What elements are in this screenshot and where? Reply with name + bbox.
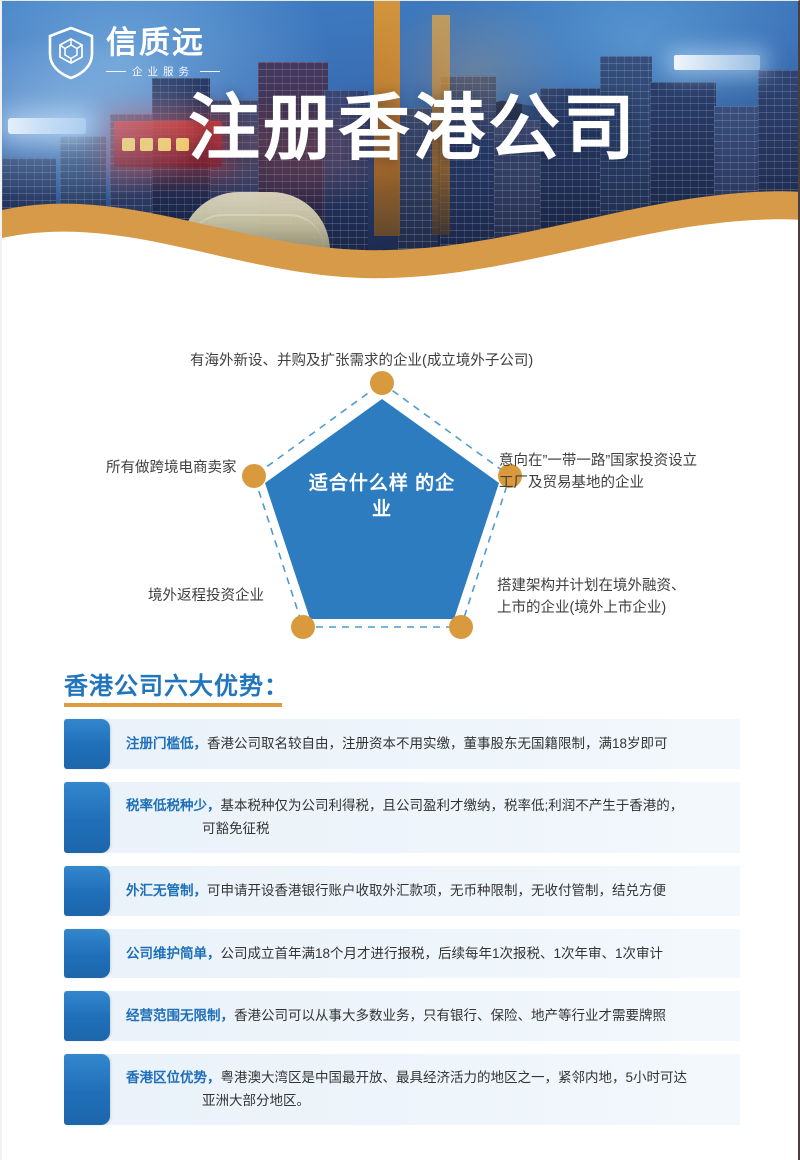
- advantage-term: 注册门槛低，: [126, 736, 207, 751]
- advantage-desc: 公司成立首年满18个月才进行报税，后续每年1次报税、1次年审、1次审计: [221, 946, 664, 961]
- advantage-term: 外汇无管制，: [126, 883, 207, 898]
- diagram-label-left: 所有做跨境电商卖家: [106, 458, 237, 480]
- diagram-label-top: 有海外新设、并购及扩张需求的企业(成立境外子公司): [190, 351, 533, 373]
- advantage-row: 香港区位优势，粤港澳大湾区是中国最开放、最具经济活力的地区之一，紧邻内地，5小时…: [64, 1054, 740, 1125]
- advantages-heading-underline: [64, 703, 282, 707]
- advantage-desc: 香港公司可以从事大多数业务，只有银行、保险、地产等行业才需要牌照: [234, 1008, 666, 1023]
- node-dot-bottom-left: [291, 615, 315, 639]
- shield-cube-icon: [46, 25, 96, 81]
- advantage-desc-continued: 亚洲大部分地区。: [126, 1089, 726, 1113]
- node-dot-left: [242, 464, 266, 488]
- wave-divider: [2, 176, 800, 286]
- brand-name: 信质远: [106, 27, 220, 60]
- advantage-row: 经营范围无限制，香港公司可以从事大多数业务，只有银行、保险、地产等行业才需要牌照: [64, 991, 740, 1041]
- advantage-row: 外汇无管制，可申请开设香港银行账户收取外汇款项，无币种限制，无收付管制，结兑方便: [64, 866, 740, 916]
- advantage-text: 税率低税种少，基本税种仅为公司利得税，且公司盈利才缴纳，税率低;利润不产生于香港…: [110, 782, 740, 853]
- advantage-row: 注册门槛低，香港公司取名较自由，注册资本不用实缴，董事股东无国籍限制，满18岁即…: [64, 719, 740, 769]
- pentagon-center-label: 适合什么样 的企业: [302, 471, 462, 522]
- advantage-text: 注册门槛低，香港公司取名较自由，注册资本不用实缴，董事股东无国籍限制，满18岁即…: [110, 719, 740, 769]
- light-streak: [674, 55, 760, 70]
- advantages-list: 注册门槛低，香港公司取名较自由，注册资本不用实缴，董事股东无国籍限制，满18岁即…: [64, 719, 740, 1138]
- light-streak: [8, 118, 86, 134]
- advantages-heading: 香港公司六大优势：: [64, 666, 289, 701]
- node-dot-bottom-right: [449, 615, 473, 639]
- advantage-tab: [64, 991, 110, 1041]
- advantage-term: 税率低税种少，: [126, 798, 221, 813]
- neon-sign-dots: [122, 138, 189, 151]
- advantage-text: 公司维护简单，公司成立首年满18个月才进行报税，后续每年1次报税、1次年审、1次…: [110, 929, 740, 979]
- suitability-diagram: 适合什么样 的企业 有海外新设、并购及扩张需求的企业(成立境外子公司) 意向在”…: [2, 331, 800, 651]
- tagline-rule-left: [106, 71, 126, 72]
- advantage-tab: [64, 1054, 110, 1125]
- advantage-row: 税率低税种少，基本税种仅为公司利得税，且公司盈利才缴纳，税率低;利润不产生于香港…: [64, 782, 740, 853]
- advantage-text: 经营范围无限制，香港公司可以从事大多数业务，只有银行、保险、地产等行业才需要牌照: [110, 991, 740, 1041]
- poster-page: 信质远 企业服务 注册香港公司: [0, 0, 800, 1160]
- advantage-desc-continued: 可豁免征税: [126, 817, 726, 841]
- advantage-text: 外汇无管制，可申请开设香港银行账户收取外汇款项，无币种限制，无收付管制，结兑方便: [110, 866, 740, 916]
- advantage-text: 香港区位优势，粤港澳大湾区是中国最开放、最具经济活力的地区之一，紧邻内地，5小时…: [110, 1054, 740, 1125]
- hero-banner: 信质远 企业服务 注册香港公司: [2, 1, 800, 286]
- brand-tagline-row: 企业服务: [106, 64, 220, 79]
- brand-tagline: 企业服务: [132, 64, 194, 79]
- diagram-label-right: 意向在”一带一路”国家投资设立 工厂及贸易基地的企业: [499, 451, 697, 495]
- advantage-desc: 香港公司取名较自由，注册资本不用实缴，董事股东无国籍限制，满18岁即可: [207, 736, 668, 751]
- advantage-tab: [64, 719, 110, 769]
- page-title: 注册香港公司: [188, 93, 638, 165]
- advantage-tab: [64, 929, 110, 979]
- advantage-tab: [64, 866, 110, 916]
- advantage-term: 公司维护简单，: [126, 946, 221, 961]
- advantage-desc: 可申请开设香港银行账户收取外汇款项，无币种限制，无收付管制，结兑方便: [207, 883, 666, 898]
- advantage-tab: [64, 782, 110, 853]
- advantage-term: 经营范围无限制，: [126, 1008, 234, 1023]
- tagline-rule-right: [200, 71, 220, 72]
- node-dot-top: [370, 371, 394, 395]
- diagram-label-bottom-left: 境外返程投资企业: [148, 586, 264, 608]
- advantage-term: 香港区位优势，: [126, 1070, 221, 1085]
- advantage-desc: 粤港澳大湾区是中国最开放、最具经济活力的地区之一，紧邻内地，5小时可达: [221, 1070, 688, 1085]
- advantage-row: 公司维护简单，公司成立首年满18个月才进行报税，后续每年1次报税、1次年审、1次…: [64, 929, 740, 979]
- advantage-desc: 基本税种仅为公司利得税，且公司盈利才缴纳，税率低;利润不产生于香港的，: [221, 798, 684, 813]
- brand-logo: 信质远 企业服务: [46, 25, 220, 81]
- diagram-label-bottom-right: 搭建架构并计划在境外融资、 上市的企业(境外上市企业): [497, 576, 686, 620]
